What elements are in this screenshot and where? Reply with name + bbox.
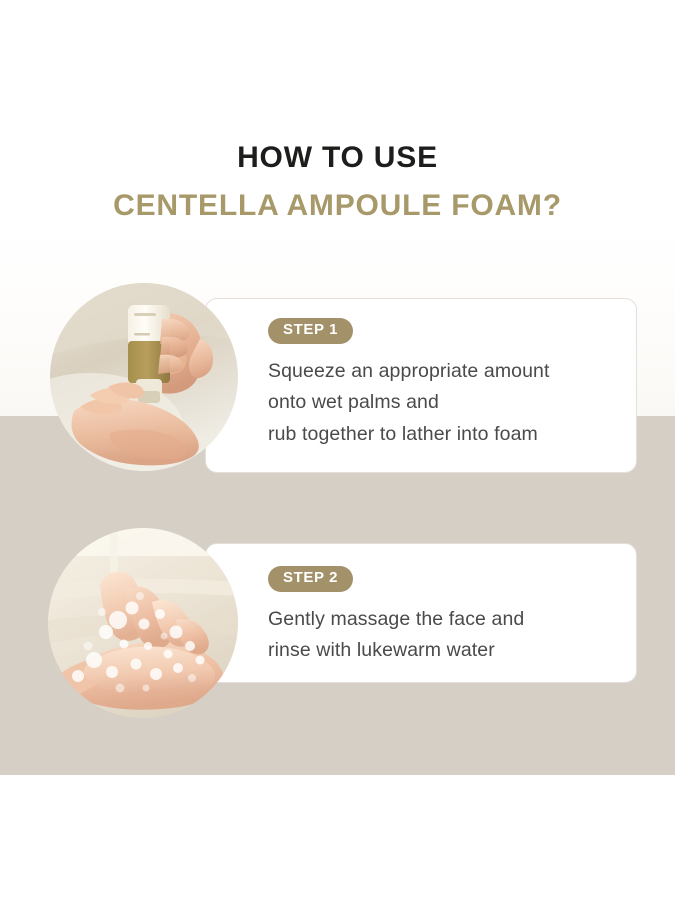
step-badge-2: STEP 2 xyxy=(268,566,353,592)
step-text-1-line-3: rub together to lather into foam xyxy=(268,419,628,451)
step-text-2: Gently massage the face and rinse with l… xyxy=(268,604,628,667)
step-text-2-line-2: rinse with lukewarm water xyxy=(268,635,628,667)
step-content-2: STEP 2 Gently massage the face and rinse… xyxy=(268,566,628,667)
page-title-line-2: CENTELLA AMPOULE FOAM? xyxy=(0,186,675,226)
step-text-1: Squeeze an appropriate amount onto wet p… xyxy=(268,356,628,451)
background-band-bottom xyxy=(0,775,675,920)
step-content-1: STEP 1 Squeeze an appropriate amount ont… xyxy=(268,318,628,450)
page-title-line-1: HOW TO USE xyxy=(0,138,675,178)
step-text-1-line-1: Squeeze an appropriate amount xyxy=(268,356,628,388)
step-photo-1 xyxy=(50,283,238,471)
page-title: HOW TO USE CENTELLA AMPOULE FOAM? xyxy=(0,138,675,225)
step-text-1-line-2: onto wet palms and xyxy=(268,387,628,419)
step-photo-2 xyxy=(48,528,238,718)
step-text-2-line-1: Gently massage the face and xyxy=(268,604,628,636)
step-badge-1: STEP 1 xyxy=(268,318,353,344)
